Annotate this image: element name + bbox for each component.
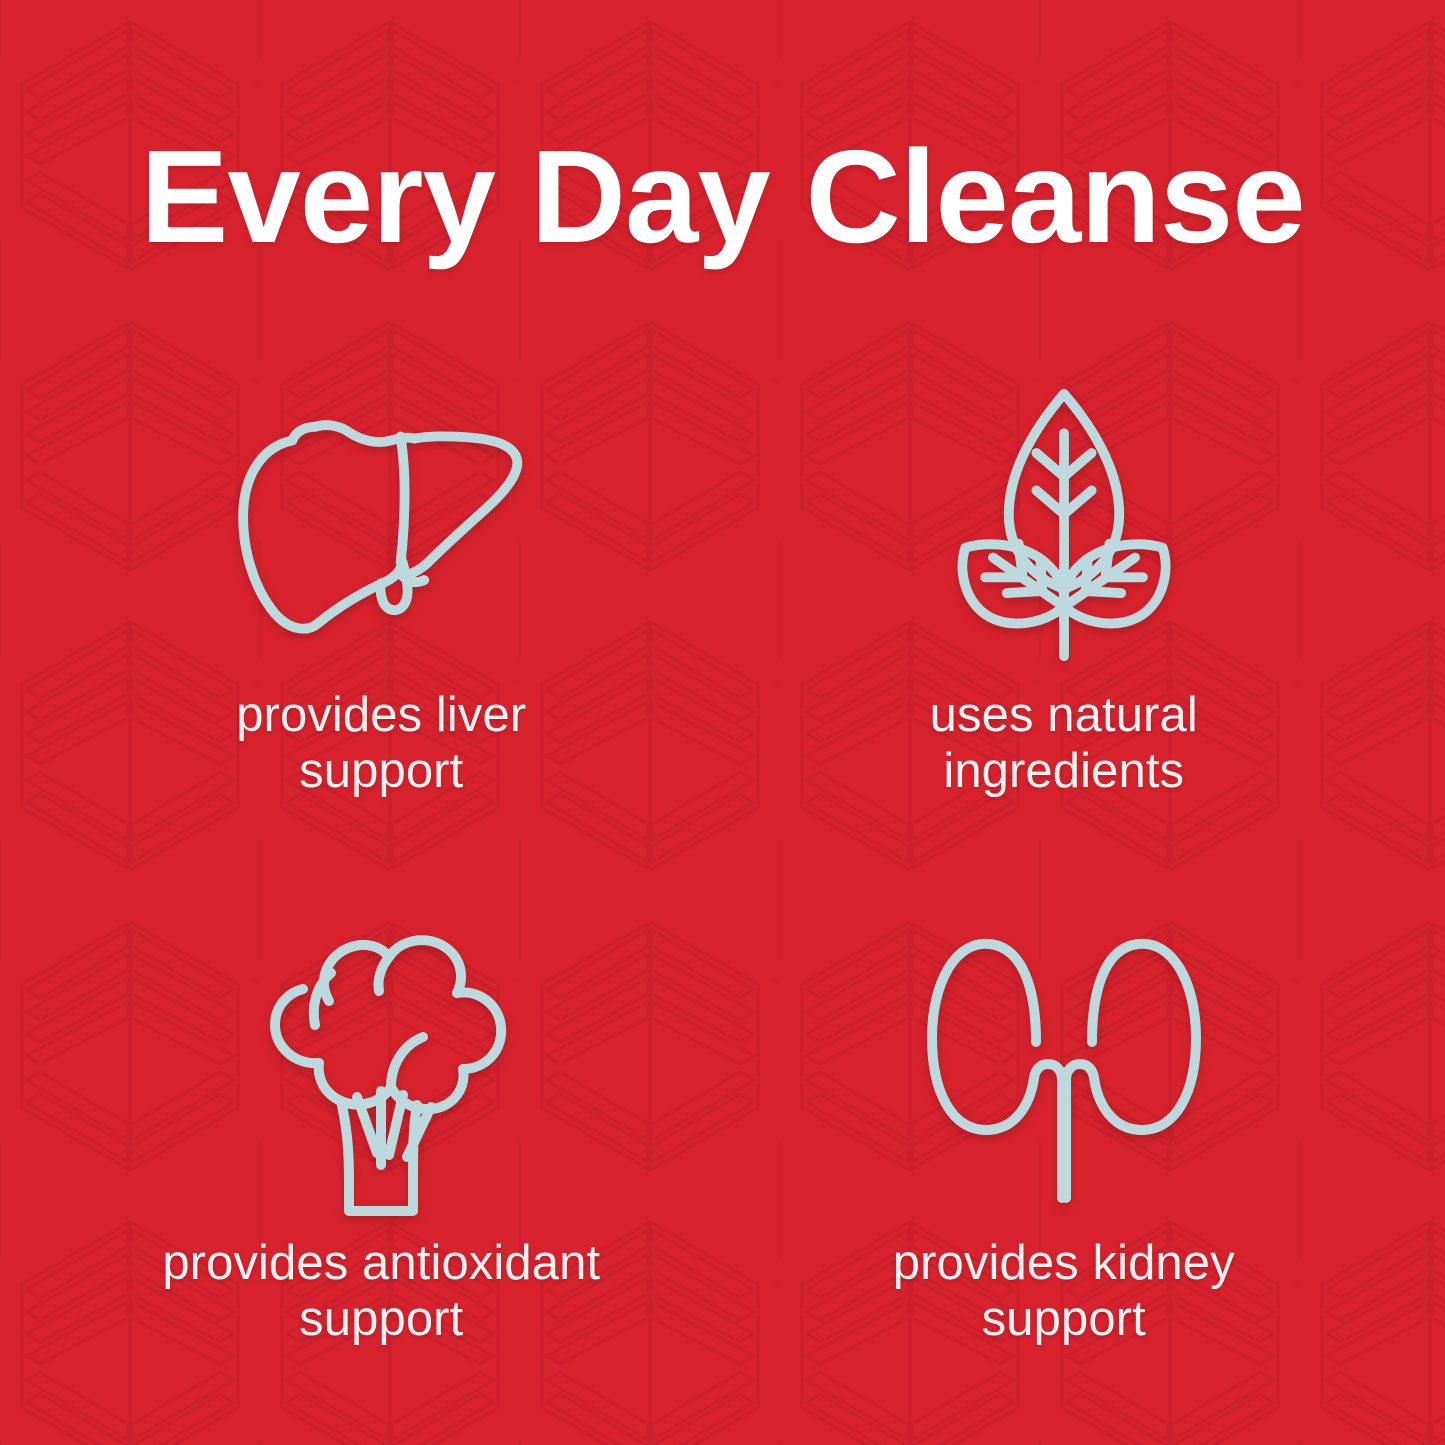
feature-grid: provides liver support: [60, 380, 1385, 1390]
feature-label-natural-line1: uses natural: [930, 688, 1198, 742]
feature-label-kidney-line2: support: [982, 1292, 1146, 1346]
feature-label-kidney-line1: provides kidney: [893, 1236, 1235, 1290]
broccoli-icon: [60, 908, 703, 1228]
feature-item-antioxidant: provides antioxidant support: [60, 890, 703, 1390]
feature-label-liver-line1: provides liver: [236, 688, 526, 742]
liver-icon: [60, 380, 703, 670]
feature-label-liver-line2: support: [299, 744, 463, 798]
feature-label-antioxidant-line1: provides antioxidant: [162, 1236, 600, 1290]
leaf-plant-icon: [743, 380, 1386, 670]
page-title: Every Day Cleanse: [0, 128, 1445, 267]
feature-item-liver: provides liver support: [60, 380, 703, 880]
kidney-icon: [743, 908, 1386, 1228]
feature-item-natural-ingredients: uses natural ingredients: [743, 380, 1386, 880]
feature-label-liver: provides liver support: [236, 688, 526, 800]
product-feature-poster: Every Day Cleanse: [0, 0, 1445, 1445]
feature-label-natural-ingredients: uses natural ingredients: [930, 688, 1198, 800]
feature-label-kidney: provides kidney support: [893, 1236, 1235, 1348]
feature-item-kidney: provides kidney support: [743, 890, 1386, 1390]
feature-label-natural-line2: ingredients: [943, 744, 1184, 798]
feature-label-antioxidant-line2: support: [299, 1292, 463, 1346]
feature-label-antioxidant: provides antioxidant support: [162, 1236, 600, 1348]
